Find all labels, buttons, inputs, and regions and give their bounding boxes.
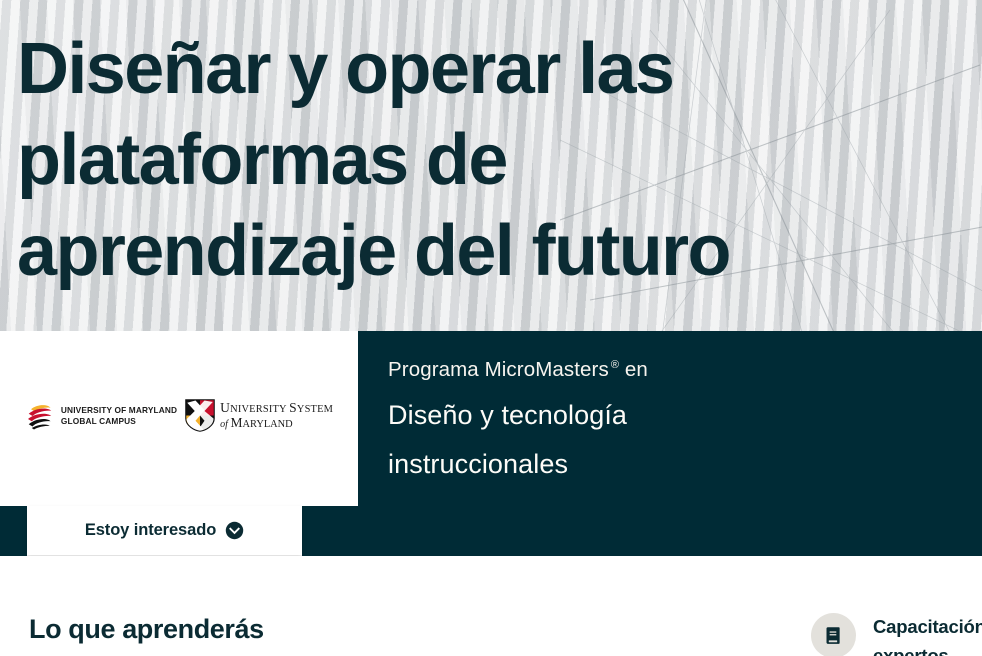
hero-title: Diseñar y operar las plataformas de apre… <box>17 24 982 297</box>
feature-icon-circle <box>811 613 856 656</box>
feature-item: Capacitación por expertos <box>811 612 982 656</box>
program-kicker: Programa MicroMasters® en <box>388 351 648 384</box>
hero-banner: Diseñar y operar las plataformas de apre… <box>0 0 982 331</box>
program-panel-left-strip <box>0 506 27 556</box>
program-kicker-text: Programa MicroMasters <box>388 358 609 381</box>
section-title-lo-que-aprenderas: Lo que aprenderás <box>29 612 264 646</box>
logo-row: UNIVERSITY OF MARYLAND GLOBAL CAMPUS UNI… <box>25 399 333 432</box>
institution-logos-card: UNIVERSITY OF MARYLAND GLOBAL CAMPUS UNI… <box>0 331 358 506</box>
program-kicker-suffix: en <box>619 358 648 381</box>
usm-logo: UNIVERSITY SYSTEM of MARYLAND <box>185 399 333 432</box>
content-section: Lo que aprenderás Capacitación por exper… <box>0 556 982 656</box>
umgc-globe-icon <box>25 401 55 431</box>
umgc-logo-text: UNIVERSITY OF MARYLAND GLOBAL CAMPUS <box>61 405 177 426</box>
program-panel-lower-band <box>302 506 982 556</box>
chevron-down-circle-icon <box>225 521 244 540</box>
estoy-interesado-label: Estoy interesado <box>85 521 216 540</box>
umgc-logo: UNIVERSITY OF MARYLAND GLOBAL CAMPUS <box>25 401 177 431</box>
page-root: Diseñar y operar las plataformas de apre… <box>0 0 982 656</box>
feature-text: Capacitación por expertos <box>873 612 982 656</box>
usm-logo-text: UNIVERSITY SYSTEM of MARYLAND <box>220 401 333 430</box>
trademark-symbol: ® <box>611 359 619 371</box>
estoy-interesado-button[interactable]: Estoy interesado <box>27 506 302 555</box>
book-icon <box>823 625 844 646</box>
program-name: Diseño y tecnología instruccionales <box>388 391 948 489</box>
usm-shield-icon <box>185 399 215 432</box>
